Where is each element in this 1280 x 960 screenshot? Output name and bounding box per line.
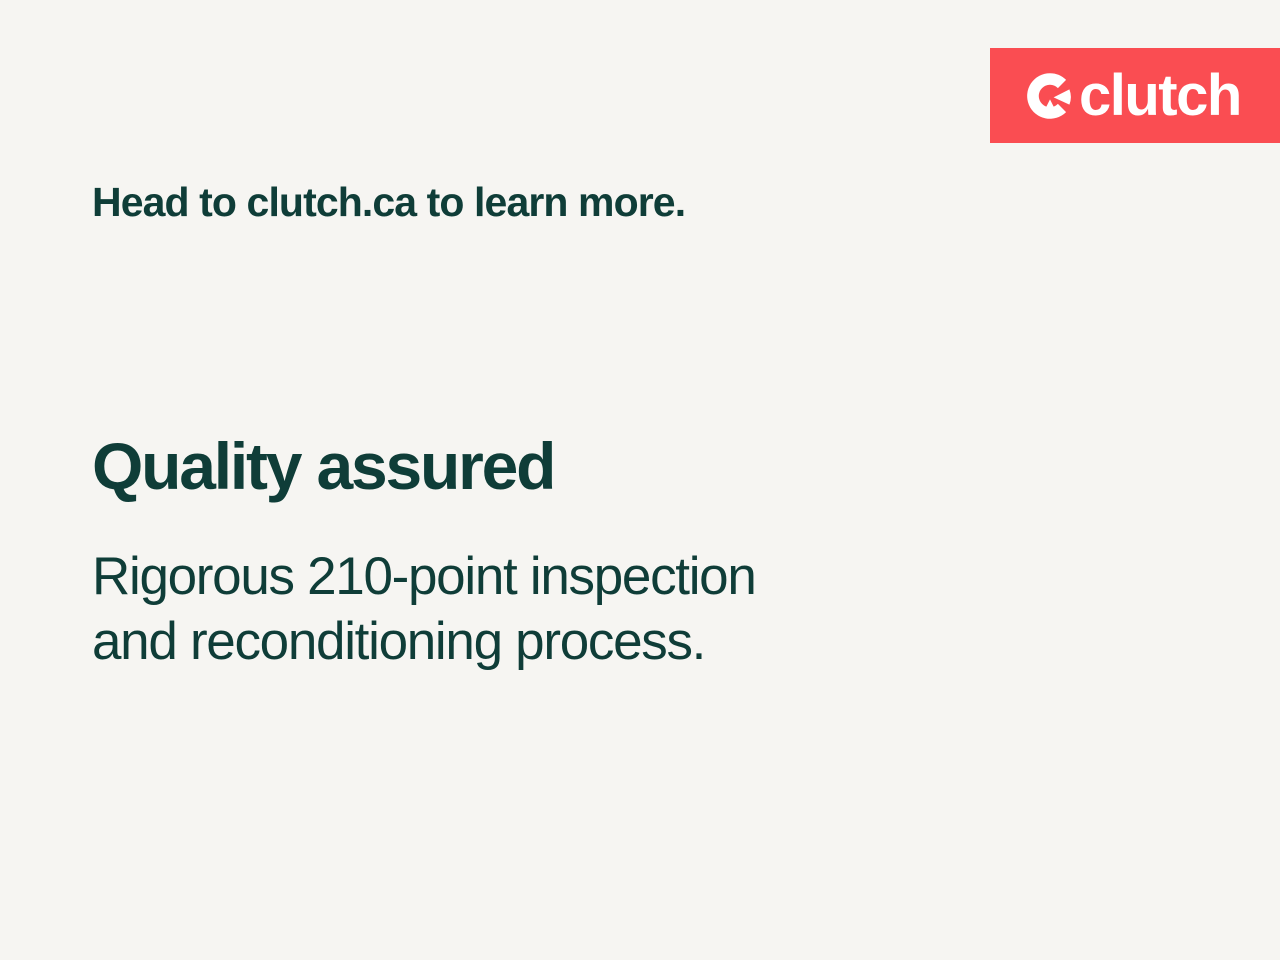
subcopy-line-1: Rigorous 210-point inspection — [92, 545, 756, 610]
clutch-logo-banner[interactable]: clutch — [990, 48, 1280, 143]
subcopy-line-2: and reconditioning process. — [92, 610, 756, 675]
slide-canvas: clutch Head to clutch.ca to learn more. … — [0, 0, 1280, 960]
subcopy-block: Rigorous 210-point inspection and recond… — [92, 545, 756, 674]
kicker-text: Head to clutch.ca to learn more. — [92, 179, 685, 226]
clutch-wordmark: clutch — [1079, 67, 1241, 125]
clutch-c-monogram-icon — [1024, 70, 1076, 122]
page-title: Quality assured — [92, 432, 554, 501]
clutch-logo-lockup: clutch — [1024, 65, 1241, 127]
